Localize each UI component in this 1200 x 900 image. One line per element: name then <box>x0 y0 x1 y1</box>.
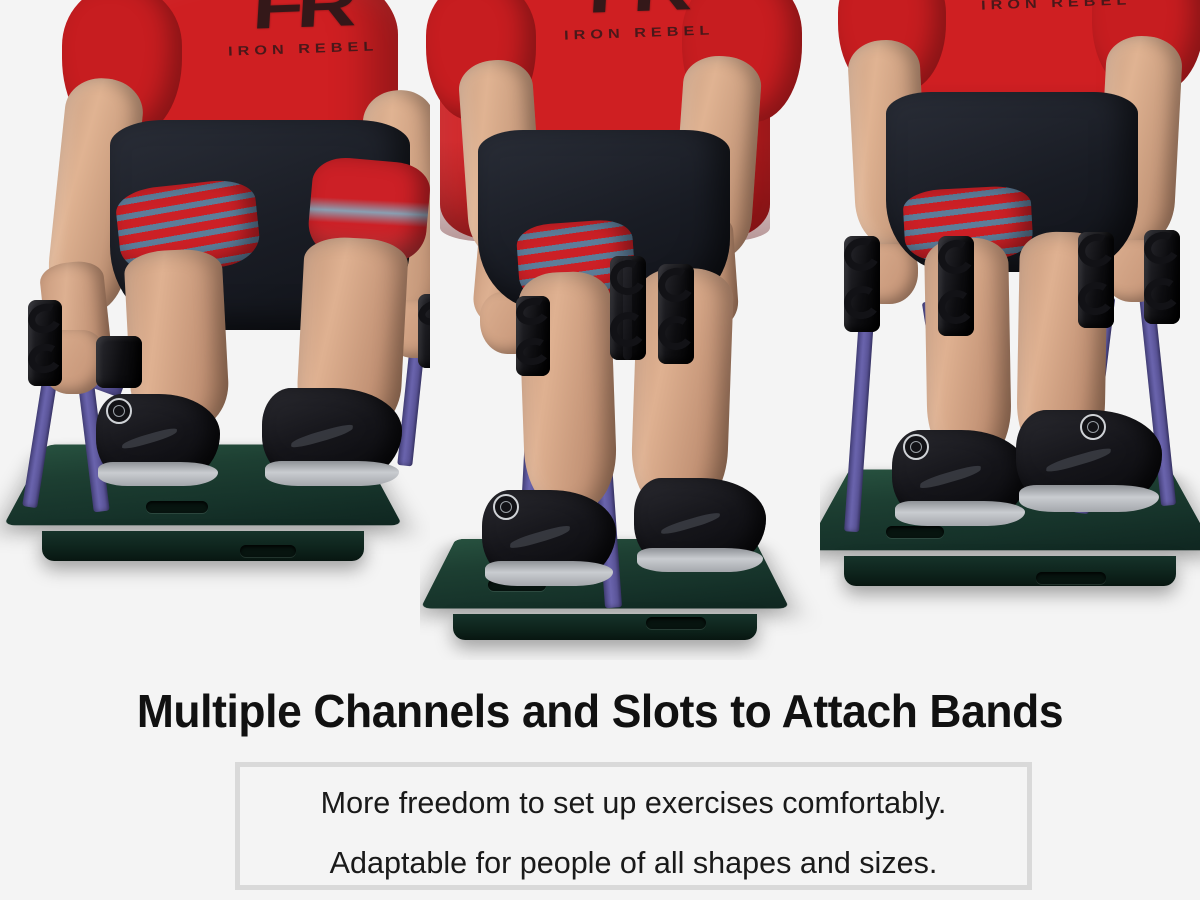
shoe-sole <box>637 548 764 572</box>
platform-slot <box>146 501 208 513</box>
athlete-shoe <box>482 490 616 586</box>
shoe-stripe <box>509 523 569 550</box>
athlete-shoe <box>892 430 1028 526</box>
shoe-sole <box>265 461 399 486</box>
platform-edge <box>42 531 364 561</box>
platform-edge <box>844 556 1175 586</box>
platform-slot <box>886 526 944 538</box>
callout-line-1: More freedom to set up exercises comfort… <box>246 787 1021 818</box>
band-hook-attachment <box>96 336 142 388</box>
band-hook-attachment <box>1078 232 1114 328</box>
shoe-logo-badge <box>493 494 519 520</box>
photo-panel-middle: CLENCH FR IRON REBEL <box>420 0 840 660</box>
shoe-logo-badge <box>106 398 132 424</box>
band-hook-attachment <box>658 264 694 364</box>
band-hook-attachment <box>516 296 550 376</box>
poster-root: FR IRON REBEL <box>0 0 1200 900</box>
callout-line-2: Adaptable for people of all shapes and s… <box>246 847 1021 878</box>
band-hook-attachment <box>28 300 62 386</box>
band-hook-attachment <box>844 236 880 332</box>
platform-slot <box>646 617 706 629</box>
shoe-sole <box>485 561 614 586</box>
platform-slot <box>1036 572 1106 584</box>
shoe-sole <box>895 501 1026 526</box>
callout-box: More freedom to set up exercises comfort… <box>235 762 1032 890</box>
athlete-shoe <box>634 478 766 572</box>
athlete-shoe <box>262 388 402 486</box>
athlete-shoe <box>1016 410 1162 512</box>
shoe-logo-badge <box>1080 414 1106 440</box>
shoe-logo-badge <box>903 434 929 460</box>
page-title: Multiple Channels and Slots to Attach Ba… <box>21 684 1179 738</box>
shoe-stripe <box>121 426 177 452</box>
band-hook-attachment <box>938 236 974 336</box>
shoe-stripe <box>291 422 354 450</box>
athlete-shoe <box>96 394 220 486</box>
shoe-stripe <box>661 511 720 538</box>
platform-slot <box>240 545 296 557</box>
photo-panel-left: FR IRON REBEL <box>0 0 430 660</box>
band-hook-attachment <box>1144 230 1180 324</box>
platform-edge <box>453 614 757 640</box>
photo-panel-right: FR IRON REBEL <box>820 0 1200 660</box>
shoe-stripe <box>920 463 981 491</box>
hook-body <box>96 336 142 388</box>
shoe-sole <box>1019 485 1159 512</box>
band-hook-attachment <box>610 256 646 360</box>
shoe-stripe <box>1046 445 1112 474</box>
product-photo-collage: FR IRON REBEL <box>0 0 1200 660</box>
shoe-sole <box>98 462 217 486</box>
